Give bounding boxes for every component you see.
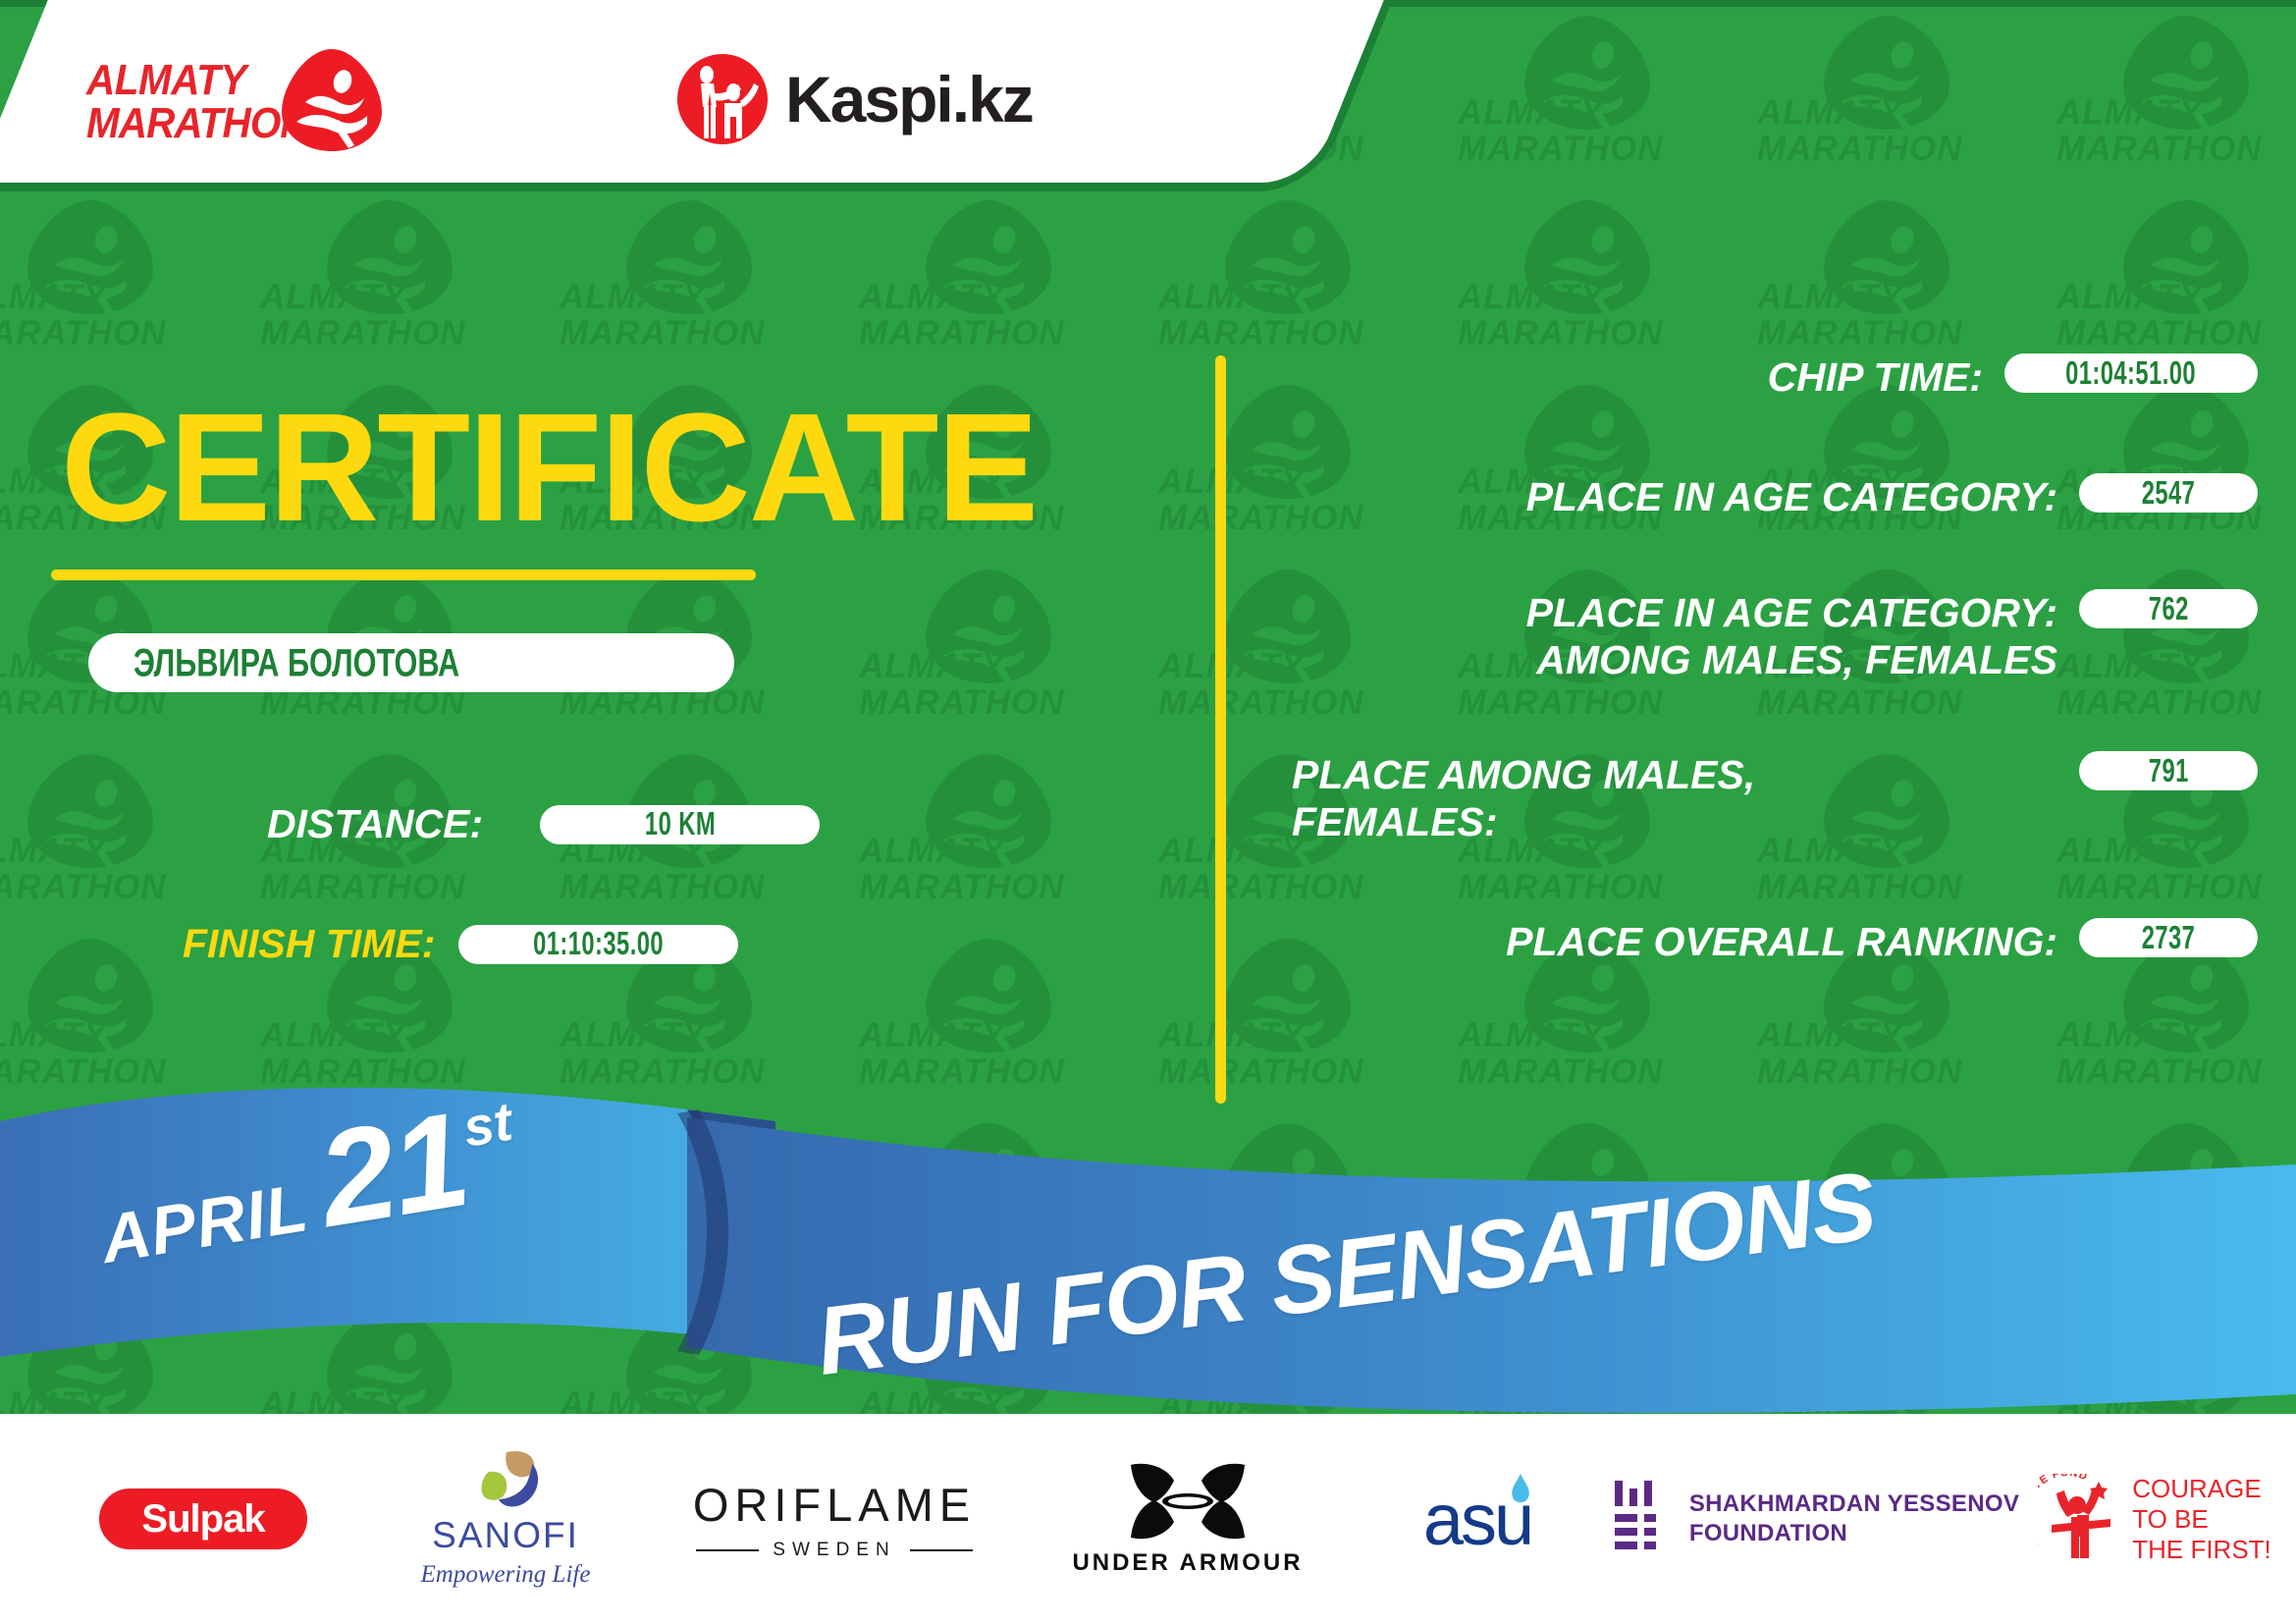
stat-value: 791 [2149,752,2189,790]
stat-place-age-category: PLACE IN AGE CATEGORY: 2547 [1266,473,2258,520]
distance-label: DISTANCE: [267,801,483,847]
sanofi-mark-icon [467,1450,544,1511]
stat-value-pill: 762 [2079,589,2258,628]
stat-value: 2737 [2142,919,2196,957]
sponsor-sanofi: SANOFI Empowering Life [363,1414,648,1624]
stat-value-pill: 791 [2079,751,2258,790]
stat-place-age-category-gender: PLACE IN AGE CATEGORY: AMONG MALES, FEMA… [1266,589,2258,683]
event-day-suffix: st [458,1090,516,1160]
sponsor-oriflame: ORIFLAME SWEDEN [677,1414,991,1624]
stat-label: PLACE IN AGE CATEGORY: AMONG MALES, FEMA… [1266,589,2079,683]
sponsor-sulpak: Sulpak [61,1414,346,1624]
stat-value: 762 [2149,590,2189,628]
stat-label: PLACE AMONG MALES, FEMALES: [1266,751,2079,845]
finish-time-value: 01:10:35.00 [533,925,664,963]
stat-value-pill: 2737 [2079,918,2258,957]
stat-value-pill: 2547 [2079,473,2258,513]
finish-time-value-pill: 01:10:35.00 [458,925,738,964]
under-armour-icon [1125,1461,1251,1542]
yessenov-line1: SHAKHMARDAN YESSENOV [1689,1489,2019,1519]
stat-chip-time: CHIP TIME: 01:04:51.00 [1266,353,2258,401]
sanofi-label: SANOFI [432,1515,579,1556]
stat-value: 2547 [2142,474,2196,513]
sulpak-label: Sulpak [141,1497,264,1542]
event-day: 21 [311,1099,474,1241]
stat-place-overall: PLACE OVERALL RANKING: 2737 [1266,918,2258,965]
stat-label: CHIP TIME: [1266,353,2004,401]
distance-value: 10 KM [645,805,716,843]
asu-label: asu [1423,1478,1531,1561]
courage-line2: TO BE [2132,1504,2271,1535]
stat-label-line2: FEMALES: [1292,798,2079,845]
courage-label: COURAGE TO BE THE FIRST! [2132,1474,2271,1565]
stat-place-among-gender: PLACE AMONG MALES, FEMALES: 791 [1266,751,2258,845]
sponsor-under-armour: UNDER ARMOUR [1041,1414,1335,1624]
under-armour-label: UNDER ARMOUR [1072,1549,1303,1577]
distance-row: DISTANCE: 10 KM [267,801,820,847]
stat-label-line1: PLACE AMONG MALES, [1292,751,2079,798]
sponsor-courage-fund: CORPORATE FUND COURAGE TO BE THE FIRST! [2032,1414,2277,1624]
stat-label-line1: PLACE IN AGE CATEGORY: [1266,589,2057,636]
participant-name: ЭЛЬВИРА БОЛОТОВА [133,640,459,685]
sponsor-yessenov-foundation: SHAKHMARDAN YESSENOV FOUNDATION [1610,1414,2022,1624]
courage-line3: THE FIRST! [2132,1535,2271,1565]
finish-time-label: FINISH TIME: [183,921,435,967]
sanofi-tagline: Empowering Life [421,1561,591,1589]
yessenov-mark-icon [1613,1479,1668,1559]
stat-value-pill: 01:04:51.00 [2004,353,2258,393]
divider-line-right [910,1549,973,1551]
asu-droplet-icon [1510,1474,1531,1503]
certificate-page: ALMATY MARATHON ALMATY MARATHON [0,0,2296,1624]
vertical-divider [1215,355,1226,1104]
title-underline [51,569,756,580]
yessenov-line2: FOUNDATION [1689,1519,2019,1548]
courage-runner-icon: CORPORATE FUND [2038,1474,2122,1564]
oriflame-label: ORIFLAME [693,1478,976,1532]
sulpak-logo: Sulpak [99,1489,307,1549]
stat-label: PLACE IN AGE CATEGORY: [1266,473,2079,520]
oriflame-sub-wrap: SWEDEN [696,1540,973,1561]
stat-label: PLACE OVERALL RANKING: [1266,918,2079,965]
sponsor-asu: asu [1364,1414,1590,1624]
participant-name-field: ЭЛЬВИРА БОЛОТОВА [88,633,734,692]
stat-label-line2: AMONG MALES, FEMALES [1266,636,2057,683]
oriflame-sub: SWEDEN [759,1540,909,1561]
finish-time-row: FINISH TIME: 01:10:35.00 [183,921,738,967]
distance-value-pill: 10 KM [540,805,820,844]
yessenov-label: SHAKHMARDAN YESSENOV FOUNDATION [1689,1489,2019,1548]
left-column: CERTIFICATE ЭЛЬВИРА БОЛОТОВА DISTANCE: 1… [0,0,1178,1129]
divider-line-left [696,1549,759,1551]
sponsor-bar: Sulpak SANOFI Empowering Life ORIFLAME S… [0,1414,2296,1624]
stat-value: 01:04:51.00 [2066,354,2197,393]
page-title: CERTIFICATE [61,391,1037,545]
courage-line1: COURAGE [2132,1474,2271,1504]
